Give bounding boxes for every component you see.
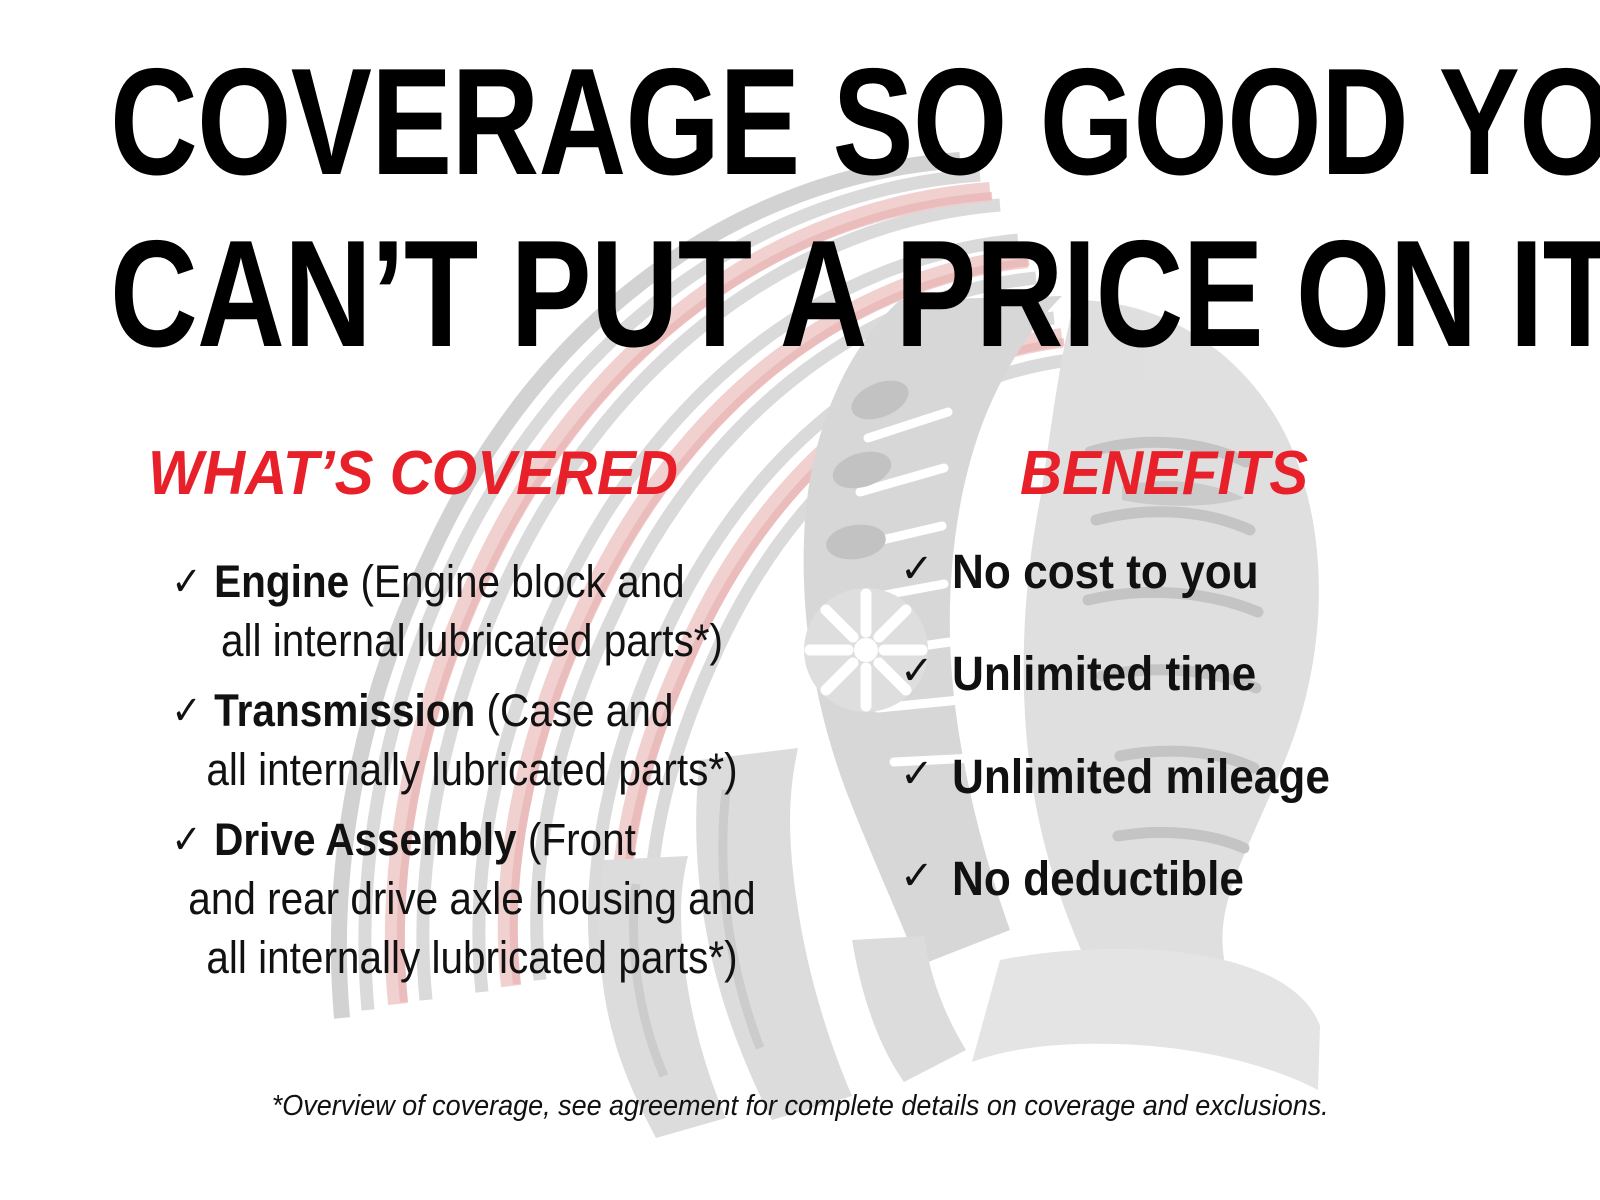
covered-item-headline: ✓Engine (Engine block and (166, 552, 778, 611)
benefits-list-item: ✓ No cost to you (900, 548, 1540, 598)
covered-list: ✓Engine (Engine block and all internal l… (132, 552, 812, 998)
covered-item-headline: ✓Drive Assembly (Front (166, 810, 778, 869)
covered-item-desc-part: (Case and (487, 685, 674, 736)
check-icon: ✓ (900, 753, 952, 795)
covered-item-desc-part: all internal lubricated parts*) (166, 611, 778, 670)
check-icon: ✓ (900, 650, 952, 692)
covered-list-item: ✓Engine (Engine block and all internal l… (132, 552, 812, 671)
check-icon: ✓ (900, 855, 952, 897)
benefits-item-label: Unlimited time (952, 650, 1256, 700)
check-icon: ✓ (171, 560, 214, 604)
section-heading-whats-covered: WHAT’S COVERED (148, 443, 678, 505)
poster-canvas: COVERAGE SO GOOD YOU CAN’T PUT A PRICE O… (0, 0, 1600, 1200)
covered-item-desc-part: (Engine block and (360, 556, 684, 607)
benefits-list-item: ✓ No deductible (900, 855, 1540, 905)
benefits-list-item: ✓ Unlimited mileage (900, 753, 1540, 803)
covered-item-desc-part: (Front (528, 814, 636, 865)
benefits-item-label: No cost to you (952, 548, 1259, 598)
section-heading-benefits: BENEFITS (1020, 443, 1308, 505)
check-icon: ✓ (900, 548, 952, 590)
check-icon: ✓ (171, 689, 214, 733)
headline-line-1: COVERAGE SO GOOD YOU (110, 46, 1230, 198)
footnote: *Overview of coverage, see agreement for… (0, 1090, 1600, 1123)
covered-list-item: ✓Drive Assembly (Front and rear drive ax… (132, 810, 812, 988)
benefits-item-label: No deductible (952, 855, 1244, 905)
benefits-list-item: ✓ Unlimited time (900, 650, 1540, 700)
covered-item-desc-part: and rear drive axle housing and (166, 869, 778, 928)
covered-item-term: Drive Assembly (214, 814, 516, 865)
benefits-list: ✓ No cost to you ✓ Unlimited time ✓ Unli… (900, 548, 1540, 958)
check-icon: ✓ (171, 818, 214, 862)
covered-item-term: Engine (214, 556, 349, 607)
covered-item-desc-part: all internally lubricated parts*) (166, 740, 778, 799)
covered-item-term: Transmission (214, 685, 475, 736)
covered-item-desc-part: all internally lubricated parts*) (166, 928, 778, 987)
headline-line-2: CAN’T PUT A PRICE ON IT. (110, 218, 1230, 370)
footnote-text: *Overview of coverage, see agreement for… (272, 1090, 1329, 1123)
covered-item-headline: ✓Transmission (Case and (166, 681, 778, 740)
benefits-item-label: Unlimited mileage (952, 753, 1330, 803)
covered-list-item: ✓Transmission (Case and all internally l… (132, 681, 812, 800)
